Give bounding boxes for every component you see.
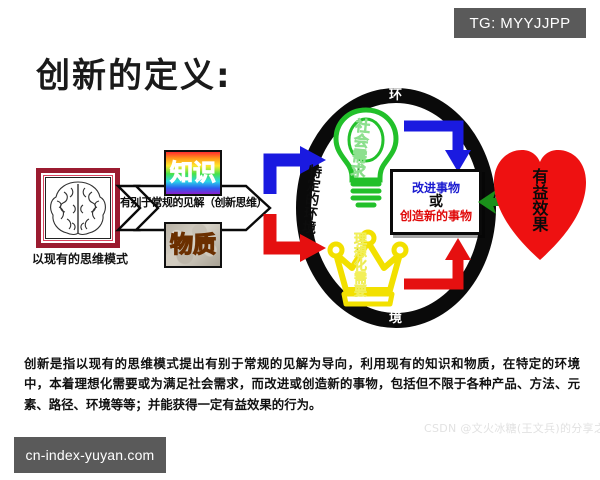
input-tile-knowledge-label: 知识 [170, 162, 216, 185]
brain-caption: 以现有的思维模式 [26, 250, 134, 267]
result-line-create: 创造新的事物 [400, 210, 472, 222]
brain-icon [45, 177, 111, 239]
red-hook-arrow-icon [402, 236, 474, 292]
tg-badge: TG: MYYJJPP [454, 8, 586, 38]
diagram-canvas: TG: MYYJJPP 创新的定义: [0, 0, 600, 480]
insight-arrow-label: 有别于常规的见解（创新思维） [120, 194, 280, 210]
ring-top-char: 环 [389, 89, 402, 102]
input-tile-knowledge: 知识 [164, 150, 222, 196]
brain-image-frame [36, 168, 120, 248]
input-tile-matter: 物质 [164, 222, 222, 268]
result-line-or: 或 [429, 195, 443, 209]
result-box: 改进事物 或 创造新的事物 [390, 169, 482, 235]
source-url-badge: cn-index-yuyan.com [14, 437, 166, 473]
page-title: 创新的定义: [36, 48, 232, 97]
crown-label: 理想化需要 [352, 232, 365, 297]
blue-hook-arrow-icon [402, 118, 474, 174]
input-tile-matter-label: 物质 [170, 234, 216, 257]
crown-icon [330, 228, 406, 308]
description-paragraph: 创新是指以现有的思维模式提出有别于常规的见解为导向，利用现有的知识和物质，在特定… [24, 354, 580, 414]
watermark: CSDN @文火冰糖(王文兵)的分享之路 [424, 420, 600, 436]
outcome-label: 有益效果 [530, 168, 546, 232]
brain-illustration [45, 179, 111, 237]
ring-bottom-char: 境 [389, 312, 402, 325]
result-line-improve: 改进事物 [412, 182, 460, 194]
